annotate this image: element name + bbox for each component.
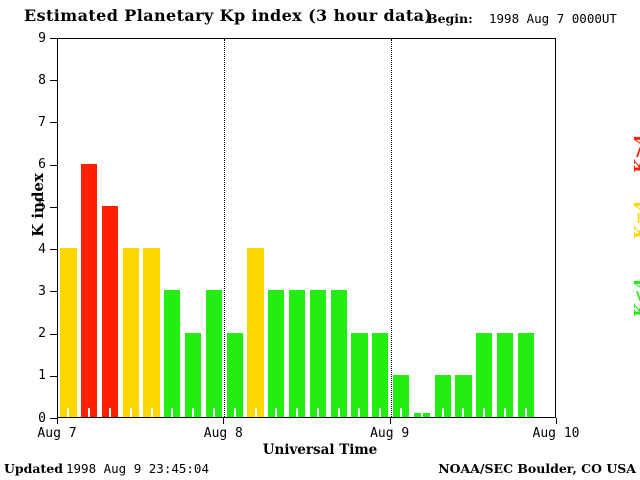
y-tick-mark <box>50 418 57 419</box>
x-tick-mark <box>390 418 391 424</box>
y-tick-label: 7 <box>26 116 46 129</box>
x-tick-mark <box>556 418 557 424</box>
kp-bar <box>247 248 263 417</box>
y-tick-label: 8 <box>26 74 46 87</box>
kp-bar <box>123 248 139 417</box>
bar-base-tick <box>151 408 153 417</box>
x-tick-mark <box>223 418 224 424</box>
bar-base-tick <box>296 408 298 417</box>
x-tick-label: Aug 8 <box>178 426 268 441</box>
bars-layer <box>58 39 555 417</box>
y-tick-mark <box>50 376 57 377</box>
legend-k-less-than-4: K<4 <box>631 258 640 338</box>
begin-timestamp: 1998 Aug 7 0000UT <box>489 11 617 26</box>
kp-bar <box>476 333 492 417</box>
bar-base-tick <box>483 408 485 417</box>
x-tick-mark <box>57 418 58 424</box>
kp-bar <box>351 333 367 417</box>
bar-base-tick <box>421 408 423 417</box>
bar-base-tick <box>192 408 194 417</box>
bar-base-tick <box>234 408 236 417</box>
kp-bar <box>143 248 159 417</box>
bar-base-tick <box>88 408 90 417</box>
kp-bar <box>268 290 284 417</box>
y-tick-mark <box>50 122 57 123</box>
x-axis-title: Universal Time <box>0 442 640 458</box>
page-title: Estimated Planetary Kp index (3 hour dat… <box>24 6 432 25</box>
updated-timestamp: 1998 Aug 9 23:45:04 <box>66 461 209 476</box>
x-tick-label: Aug 9 <box>345 426 435 441</box>
bar-base-tick <box>525 408 527 417</box>
kp-bar <box>289 290 305 417</box>
bar-base-tick <box>379 408 381 417</box>
y-tick-label: 9 <box>26 32 46 45</box>
bar-base-tick <box>130 408 132 417</box>
y-tick-label: 4 <box>26 243 46 256</box>
plot-area <box>57 38 556 418</box>
bar-base-tick <box>400 408 402 417</box>
kp-bar <box>310 290 326 417</box>
day-divider-aug-9 <box>391 39 392 417</box>
bar-base-tick <box>462 408 464 417</box>
y-tick-mark <box>50 291 57 292</box>
y-tick-mark <box>50 165 57 166</box>
y-tick-label: 2 <box>26 327 46 340</box>
kp-bar <box>185 333 201 417</box>
bar-base-tick <box>358 408 360 417</box>
kp-bar <box>206 290 222 417</box>
x-tick-label: Aug 7 <box>12 426 102 441</box>
y-tick-label: 3 <box>26 285 46 298</box>
kp-bar <box>372 333 388 417</box>
bar-base-tick <box>338 408 340 417</box>
y-tick-label: 1 <box>26 369 46 382</box>
y-tick-mark <box>50 80 57 81</box>
y-tick-label: 6 <box>26 158 46 171</box>
kp-bar <box>60 248 76 417</box>
kp-bar <box>331 290 347 417</box>
updated-label: Updated <box>4 461 63 476</box>
y-tick-label: 5 <box>26 200 46 213</box>
bar-base-tick <box>442 408 444 417</box>
bar-base-tick <box>109 408 111 417</box>
bar-base-tick <box>67 408 69 417</box>
bar-base-tick <box>171 408 173 417</box>
bar-base-tick <box>213 408 215 417</box>
kp-bar <box>164 290 180 417</box>
kp-bar <box>497 333 513 417</box>
kp-bar <box>102 206 118 417</box>
y-tick-mark <box>50 334 57 335</box>
legend-k-equals-4: K=4 <box>631 180 640 260</box>
day-divider-aug-8 <box>224 39 225 417</box>
kp-bar <box>81 164 97 417</box>
y-tick-mark <box>50 38 57 39</box>
kp-bar <box>227 333 243 417</box>
bar-base-tick <box>504 408 506 417</box>
bar-base-tick <box>275 408 277 417</box>
y-tick-mark <box>50 249 57 250</box>
bar-base-tick <box>317 408 319 417</box>
y-tick-mark <box>50 207 57 208</box>
x-tick-label: Aug 10 <box>511 426 601 441</box>
kp-bar <box>518 333 534 417</box>
bar-base-tick <box>255 408 257 417</box>
begin-label: Begin: <box>427 11 473 26</box>
agency-credit: NOAA/SEC Boulder, CO USA <box>438 461 636 476</box>
y-tick-label: 0 <box>26 412 46 425</box>
